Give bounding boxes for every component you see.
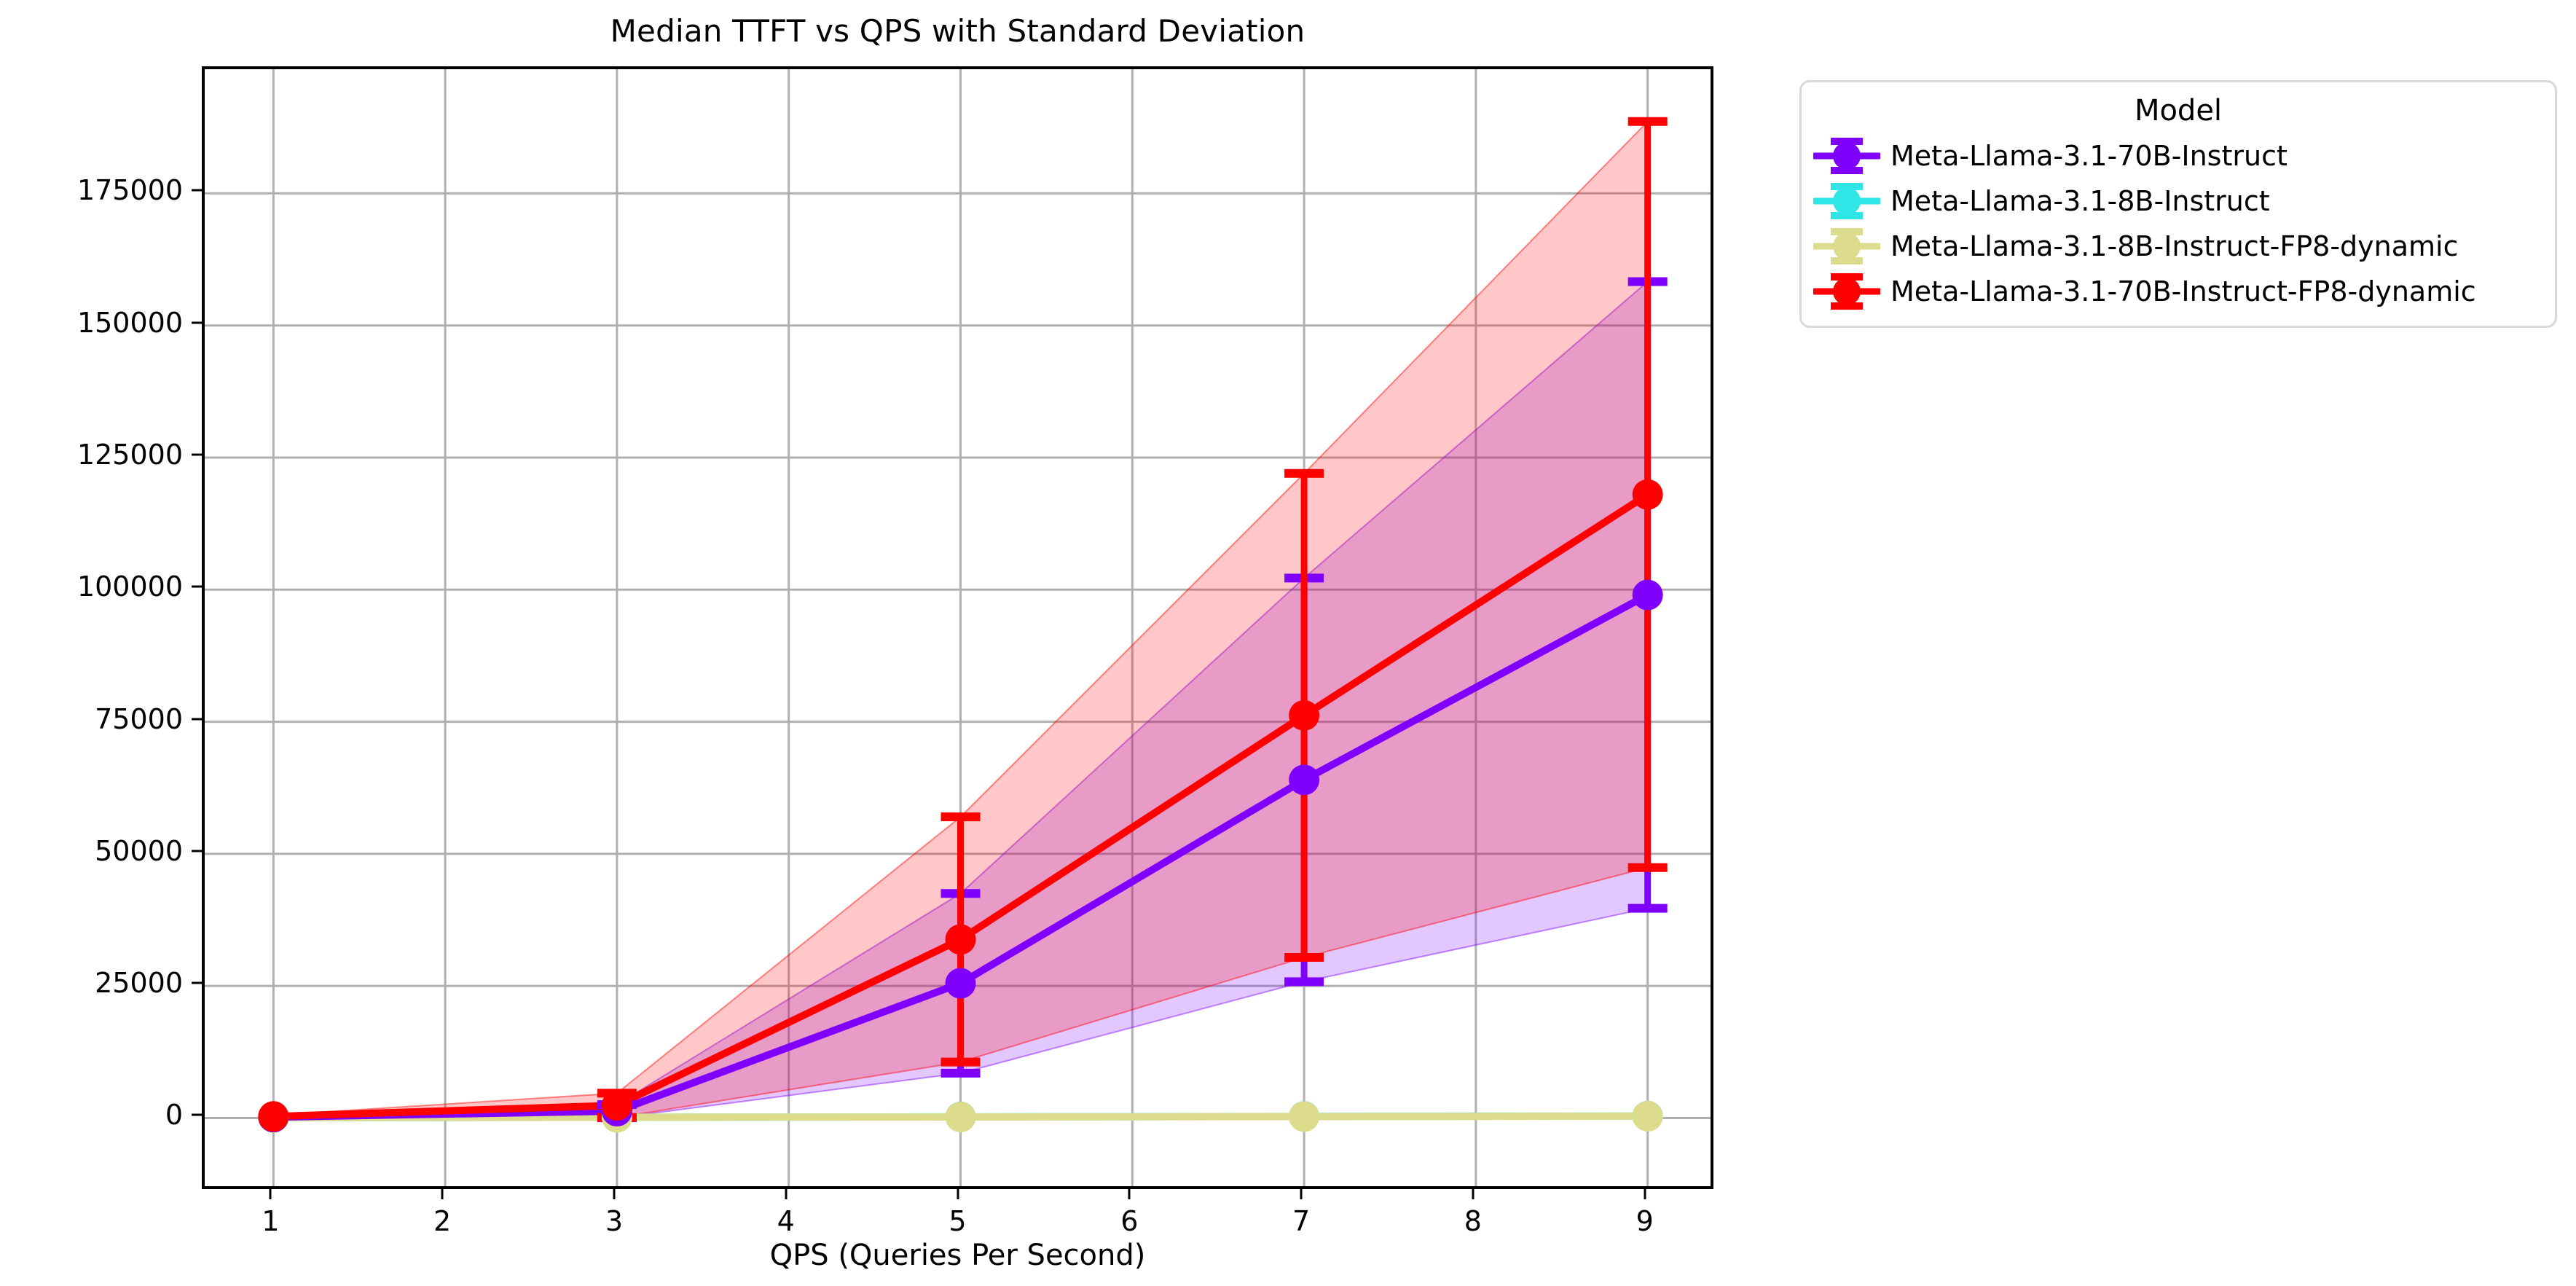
legend-errorbar-marker-icon — [1812, 179, 1882, 224]
legend-entry[interactable]: Meta-Llama-3.1-8B-Instruct — [1812, 179, 2545, 224]
legend-title: Model — [1812, 94, 2545, 128]
data-point-marker — [946, 1102, 976, 1132]
x-axis-tick-label: 1 — [262, 1205, 279, 1237]
legend-entry-label: Meta-Llama-3.1-70B-Instruct-FP8-dynamic — [1890, 278, 2476, 305]
y-axis-tick-mark — [192, 1114, 202, 1116]
y-axis-tick-label: 50000 — [95, 835, 183, 867]
x-axis-tick-label: 9 — [1636, 1205, 1654, 1237]
data-point-marker — [1289, 1102, 1319, 1132]
legend: Model Meta-Llama-3.1-70B-InstructMeta-Ll… — [1799, 80, 2557, 328]
y-axis-tick-mark — [192, 189, 202, 192]
chart-canvas — [205, 69, 1711, 1186]
page-title: Median TTFT vs QPS with Standard Deviati… — [202, 13, 1713, 49]
legend-entry[interactable]: Meta-Llama-3.1-70B-Instruct — [1812, 133, 2545, 179]
plot-inner — [205, 69, 1711, 1186]
data-point-marker — [1633, 1101, 1663, 1132]
legend-entry-label: Meta-Llama-3.1-8B-Instruct — [1890, 187, 2270, 215]
y-axis-tick-label: 150000 — [77, 307, 183, 339]
x-axis-tick-mark — [441, 1189, 444, 1199]
x-axis-tick-label: 5 — [949, 1205, 966, 1237]
y-axis-tick-mark — [192, 454, 202, 456]
legend-marker-dot — [1833, 142, 1861, 170]
legend-entry-label: Meta-Llama-3.1-70B-Instruct — [1890, 142, 2288, 170]
y-axis-title: Median TTFT (ms) — [0, 367, 1, 627]
x-axis-tick-mark — [785, 1189, 787, 1199]
x-axis-tick-mark — [613, 1189, 615, 1199]
x-axis-tick-mark — [1300, 1189, 1303, 1199]
legend-marker-dot — [1833, 232, 1861, 260]
y-axis-tick-mark — [192, 718, 202, 720]
y-axis-tick-mark — [192, 321, 202, 324]
legend-marker-dot — [1833, 278, 1861, 305]
matplotlib-figure: Median TTFT vs QPS with Standard Deviati… — [0, 0, 2576, 1286]
x-axis-tick-mark — [1128, 1189, 1131, 1199]
x-axis-tick-mark — [957, 1189, 959, 1199]
x-axis-tick-label: 6 — [1120, 1205, 1138, 1237]
legend-entry[interactable]: Meta-Llama-3.1-8B-Instruct-FP8-dynamic — [1812, 224, 2545, 269]
x-axis-tick-label: 7 — [1292, 1205, 1310, 1237]
data-point-marker — [258, 1101, 288, 1132]
legend-entries: Meta-Llama-3.1-70B-InstructMeta-Llama-3.… — [1812, 133, 2545, 314]
legend-marker-dot — [1833, 187, 1861, 215]
plot-area — [202, 66, 1713, 1189]
data-point-marker — [946, 968, 976, 999]
data-point-marker — [946, 924, 976, 954]
y-axis-tick-label: 125000 — [77, 439, 183, 471]
data-point-marker — [1289, 764, 1319, 795]
x-axis-tick-mark — [1644, 1189, 1646, 1199]
legend-entry[interactable]: Meta-Llama-3.1-70B-Instruct-FP8-dynamic — [1812, 269, 2545, 314]
y-axis-tick-mark — [192, 982, 202, 984]
x-axis-tick-label: 8 — [1464, 1205, 1482, 1237]
data-point-marker — [602, 1090, 632, 1121]
y-axis-tick-mark — [192, 586, 202, 588]
x-axis-title: QPS (Queries Per Second) — [202, 1239, 1713, 1272]
legend-errorbar-marker-icon — [1812, 133, 1882, 179]
data-point-marker — [1633, 479, 1663, 510]
legend-errorbar-marker-icon — [1812, 269, 1882, 314]
data-point-marker — [1289, 700, 1319, 731]
legend-entry-label: Meta-Llama-3.1-8B-Instruct-FP8-dynamic — [1890, 232, 2459, 260]
y-axis-tick-label: 175000 — [77, 174, 183, 206]
chart-page: Median TTFT vs QPS with Standard Deviati… — [0, 0, 2576, 1286]
y-axis-tick-label: 100000 — [77, 571, 183, 603]
x-axis-tick-label: 3 — [605, 1205, 623, 1237]
y-axis-tick-label: 75000 — [95, 703, 183, 735]
y-axis-tick-label: 25000 — [95, 967, 183, 999]
x-axis-tick-mark — [1472, 1189, 1474, 1199]
legend-errorbar-marker-icon — [1812, 224, 1882, 269]
data-point-marker — [1633, 580, 1663, 611]
y-axis-tick-label: 0 — [165, 1099, 183, 1131]
x-axis-tick-label: 4 — [777, 1205, 795, 1237]
x-axis-tick-label: 2 — [433, 1205, 451, 1237]
x-axis-tick-mark — [270, 1189, 272, 1199]
y-axis-tick-mark — [192, 850, 202, 852]
